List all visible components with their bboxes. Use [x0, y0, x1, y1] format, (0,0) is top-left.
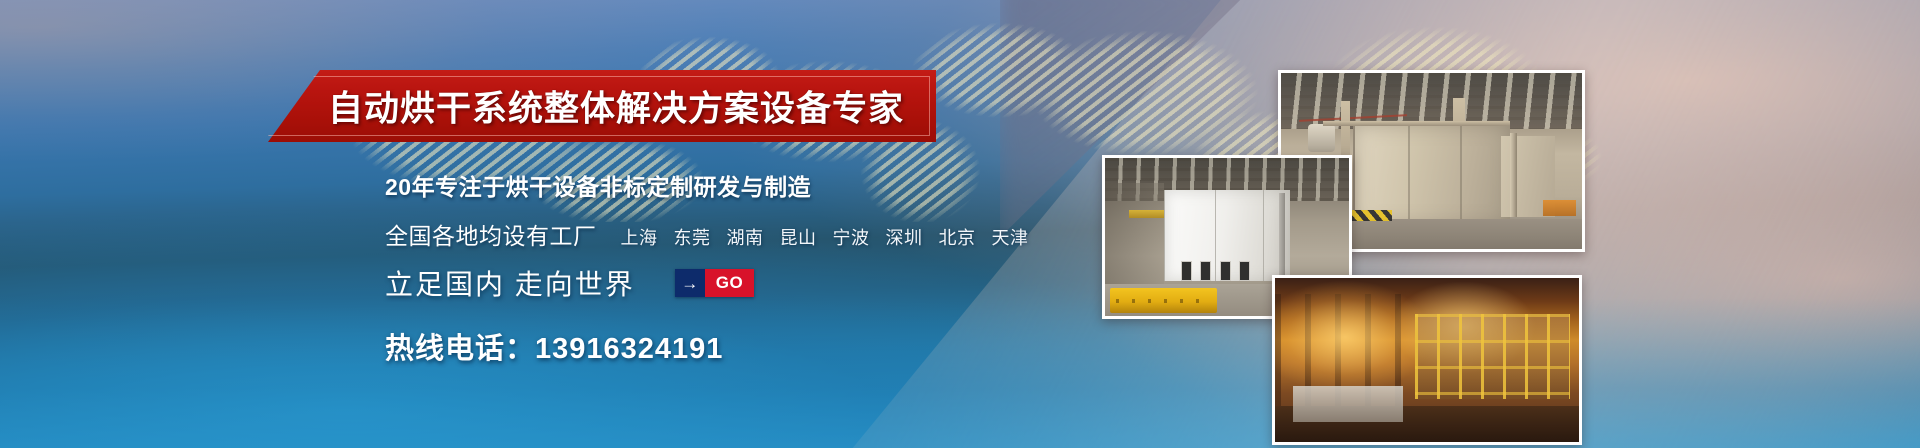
go-button-label: GO [705, 269, 754, 297]
city-item: 上海 [621, 224, 658, 250]
oven-transfer-cart [1110, 288, 1217, 313]
headline-ribbon: 自动烘干系统整体解决方案设备专家 [268, 70, 936, 142]
city-item: 东莞 [674, 224, 711, 250]
hall-column-3 [1510, 133, 1518, 218]
oven-window-3 [1220, 261, 1231, 282]
arrow-right-icon: → [675, 269, 705, 297]
oven-left-structure [1105, 183, 1164, 284]
city-item: 湖南 [727, 224, 764, 250]
subtitle: 20年专注于烘干设备非标定制研发与制造 [385, 168, 1145, 202]
city-item: 昆山 [780, 224, 817, 250]
city-item: 北京 [939, 224, 976, 250]
city-item: 天津 [992, 224, 1029, 250]
hall-equipment [1543, 200, 1576, 216]
drying-racks-image [1275, 278, 1579, 442]
photo-drying-racks [1272, 275, 1582, 445]
city-item: 深圳 [886, 224, 923, 250]
racks-cart [1293, 386, 1402, 422]
city-list: 上海 东莞 湖南 昆山 宁波 深圳 北京 天津 [621, 224, 1029, 250]
oven-window-1 [1181, 261, 1192, 282]
racks-frame [1415, 314, 1570, 399]
factory-line: 全国各地均设有工厂 上海 东莞 湖南 昆山 宁波 深圳 北京 天津 [385, 217, 1145, 251]
oven-window-2 [1200, 261, 1211, 282]
promo-banner: 自动烘干系统整体解决方案设备专家 20年专注于烘干设备非标定制研发与制造 全国各… [0, 0, 1920, 448]
city-item: 宁波 [833, 224, 870, 250]
slogan-line: 立足国内 走向世界 → GO [385, 263, 1145, 303]
hotline: 热线电话：13916324191 [385, 325, 1145, 367]
slogan: 立足国内 走向世界 [385, 263, 635, 303]
oven-door [1279, 193, 1285, 277]
hall-duct [1308, 124, 1335, 152]
oven-window-4 [1239, 261, 1250, 282]
copy-block: 20年专注于烘干设备非标定制研发与制造 全国各地均设有工厂 上海 东莞 湖南 昆… [385, 168, 1145, 367]
factory-label: 全国各地均设有工厂 [385, 217, 597, 251]
page-title: 自动烘干系统整体解决方案设备专家 [328, 81, 904, 132]
go-button[interactable]: → GO [675, 269, 754, 297]
